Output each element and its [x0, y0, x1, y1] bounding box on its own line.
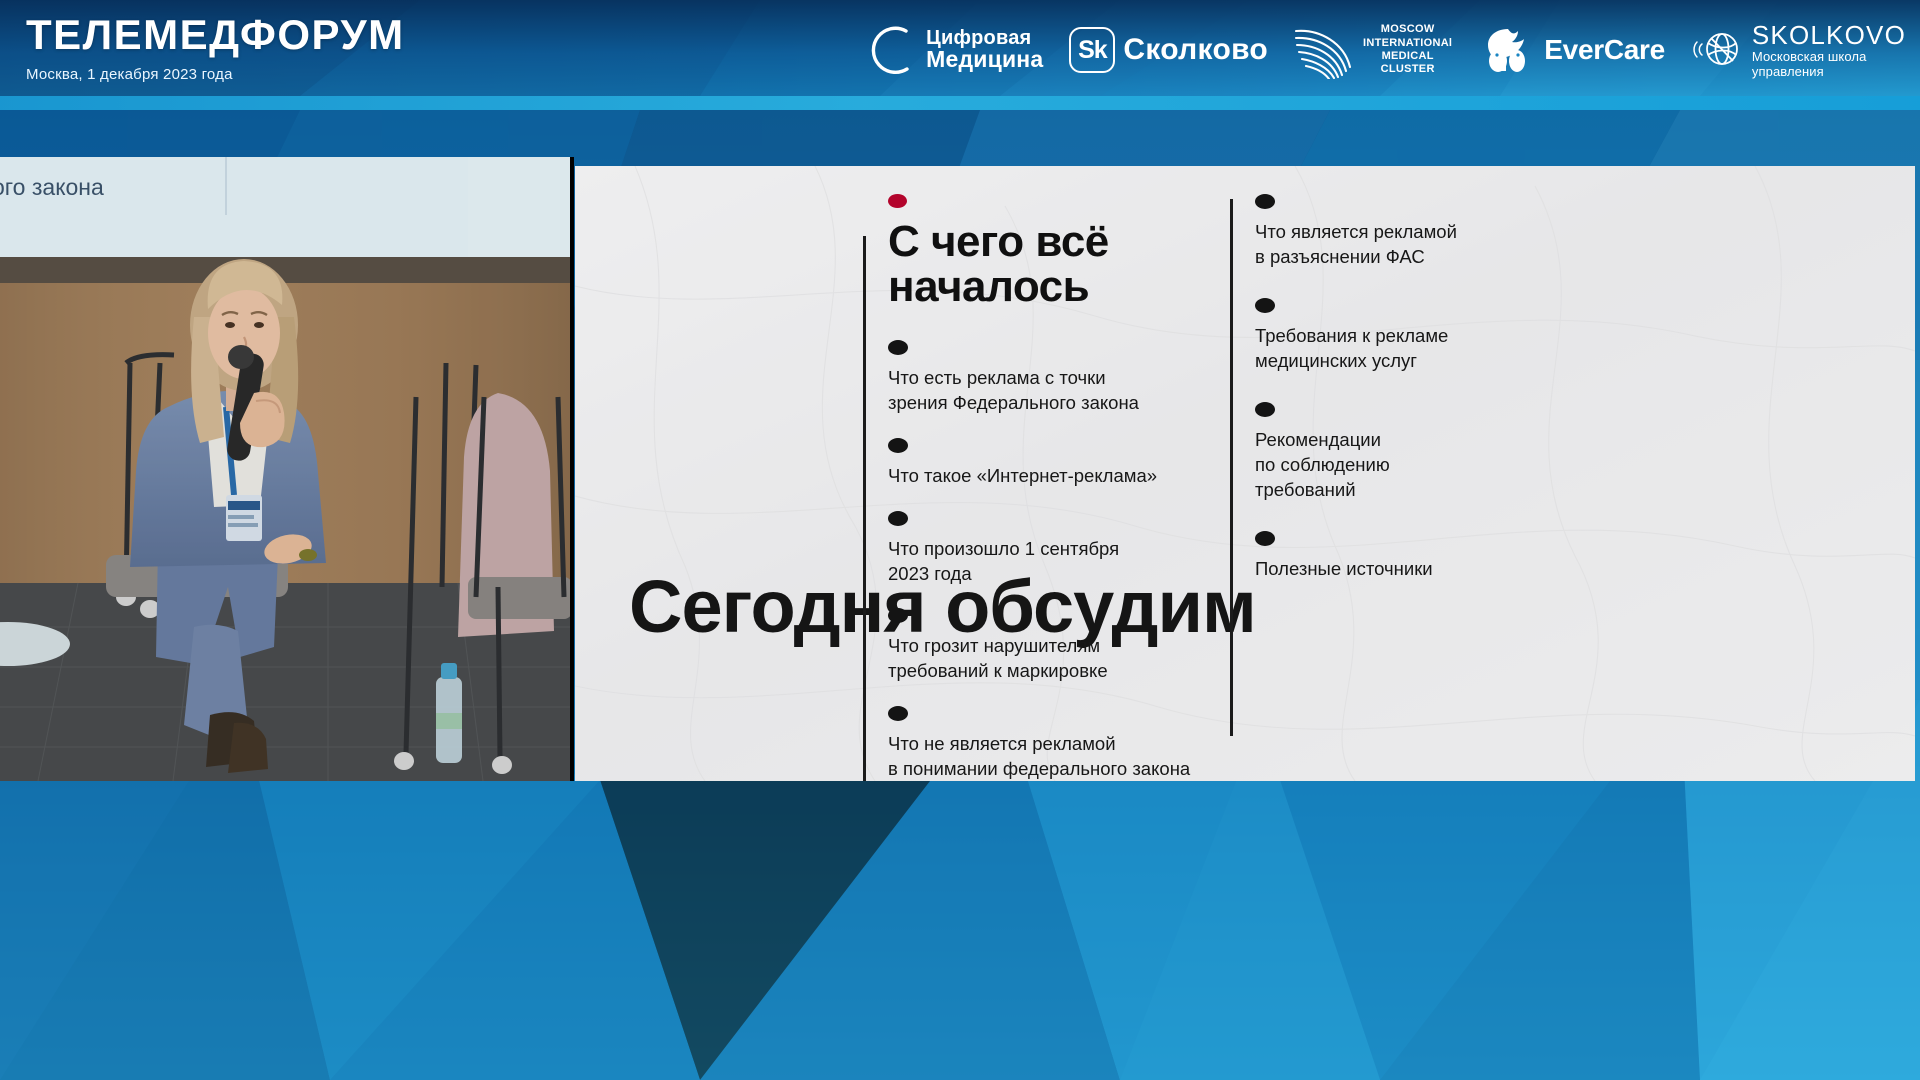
logo-evercare-word: EverCare: [1544, 34, 1665, 66]
bullet-dot-icon: [888, 608, 908, 623]
wave-lines-icon: [1294, 21, 1356, 79]
bullet-dot-icon: [1255, 298, 1275, 313]
list-item-label: Что является рекламой в разъяснении ФАС: [1255, 220, 1585, 270]
bullet-dot-icon: [888, 340, 908, 355]
list-item-label: Что не является рекламой в понимании фед…: [888, 732, 1218, 781]
list-item: Требования к рекламе медицинских услуг: [1255, 298, 1585, 374]
list-item-label: Рекомендации по соблюдению требований: [1255, 428, 1585, 503]
bullet-column-left: С чего всё началось Что есть реклама с т…: [888, 194, 1218, 781]
evercare-birds-icon: [1478, 27, 1536, 73]
section-title: С чего всё началось: [888, 219, 1218, 310]
logo-mimc-words: MOSCOW INTERNATIONAl MEDICAL CLUSTER: [1363, 23, 1452, 77]
list-item-label: Полезные источники: [1255, 557, 1585, 582]
event-brand: ТЕЛЕМЕДФОРУМ Москва, 1 декабря 2023 года: [26, 14, 405, 83]
list-item: Что есть реклама с точки зрения Федераль…: [888, 340, 1218, 416]
logo-mimc-line1: MOSCOW: [1363, 23, 1452, 36]
logo-mimc: MOSCOW INTERNATIONAl MEDICAL CLUSTER: [1294, 21, 1452, 79]
presentation-slide[interactable]: Сегодня обсудим С чего всё началось Что …: [575, 166, 1915, 781]
bullet-dot-icon: [1255, 402, 1275, 417]
list-item-label: Что такое «Интернет-реклама»: [888, 464, 1218, 489]
logo-skolkovo-school: SKOLKOVO Московская школа управления: [1691, 21, 1906, 79]
list-item-label: Что произошло 1 сентября 2023 года: [888, 537, 1218, 587]
bullet-dot-icon: [1255, 194, 1275, 209]
slide-content: Сегодня обсудим С чего всё началось Что …: [575, 166, 1915, 781]
list-item: С чего всё началось: [888, 194, 1218, 310]
bullet-dot-icon: [888, 438, 908, 453]
logo-mimc-line2: INTERNATIONAl: [1363, 37, 1452, 50]
presentation-stage: ТЕЛЕМЕДФОРУМ Москва, 1 декабря 2023 года…: [0, 0, 1920, 1080]
bullet-dot-icon: [1255, 531, 1275, 546]
logo-skolkovo-sk: Sk Сколково: [1069, 27, 1268, 73]
list-item: Что такое «Интернет-реклама»: [888, 438, 1218, 489]
logo-skolkovo-school-line3: управления: [1752, 65, 1906, 80]
list-item: Полезные источники: [1255, 531, 1585, 582]
list-item: Рекомендации по соблюдению требований: [1255, 402, 1585, 503]
video-frame: ого закона: [0, 157, 570, 781]
bullet-column-right: Что является рекламой в разъяснении ФАС …: [1255, 194, 1585, 600]
logo-dm-line1: Цифровая: [926, 28, 1043, 48]
speaker-video-feed[interactable]: ого закона: [0, 157, 574, 781]
list-item: Что является рекламой в разъяснении ФАС: [1255, 194, 1585, 270]
column-divider-1: [863, 236, 866, 781]
event-title: ТЕЛЕМЕДФОРУМ: [26, 14, 405, 56]
event-subtitle: Москва, 1 декабря 2023 года: [26, 66, 405, 83]
logo-mimc-line3: MEDICAL: [1363, 50, 1452, 63]
list-item-label: Что есть реклама с точки зрения Федераль…: [888, 366, 1218, 416]
logo-mimc-line4: CLUSTER: [1363, 63, 1452, 76]
logo-skolkovo-school-line1: SKOLKOVO: [1752, 21, 1906, 50]
arc-icon: [860, 21, 918, 79]
bullet-dot-icon: [888, 511, 908, 526]
bullet-dot-accent-icon: [888, 194, 907, 208]
header-accent-bar: [0, 96, 1920, 110]
sk-badge-icon: Sk: [1069, 27, 1115, 73]
list-item: Что не является рекламой в понимании фед…: [888, 706, 1218, 781]
column-divider-2: [1230, 199, 1233, 736]
sponsor-logos: Цифровая Медицина Sk Сколково: [860, 4, 1906, 96]
list-item: Что произошло 1 сентября 2023 года: [888, 511, 1218, 587]
logo-skolkovo-school-line2: Московская школа: [1752, 50, 1906, 65]
logo-digital-medicine: Цифровая Медицина: [860, 21, 1043, 79]
list-item: Что грозит нарушителям требований к марк…: [888, 608, 1218, 684]
logo-skolkovo-word: Сколково: [1123, 33, 1268, 67]
logo-dm-line2: Медицина: [926, 48, 1043, 71]
event-header: ТЕЛЕМЕДФОРУМ Москва, 1 декабря 2023 года…: [0, 0, 1920, 96]
list-item-label: Что грозит нарушителям требований к марк…: [888, 634, 1218, 684]
logo-evercare: EverCare: [1478, 27, 1665, 73]
globe-icon: [1691, 26, 1743, 74]
bullet-dot-icon: [888, 706, 908, 721]
list-item-label: Требования к рекламе медицинских услуг: [1255, 324, 1585, 374]
